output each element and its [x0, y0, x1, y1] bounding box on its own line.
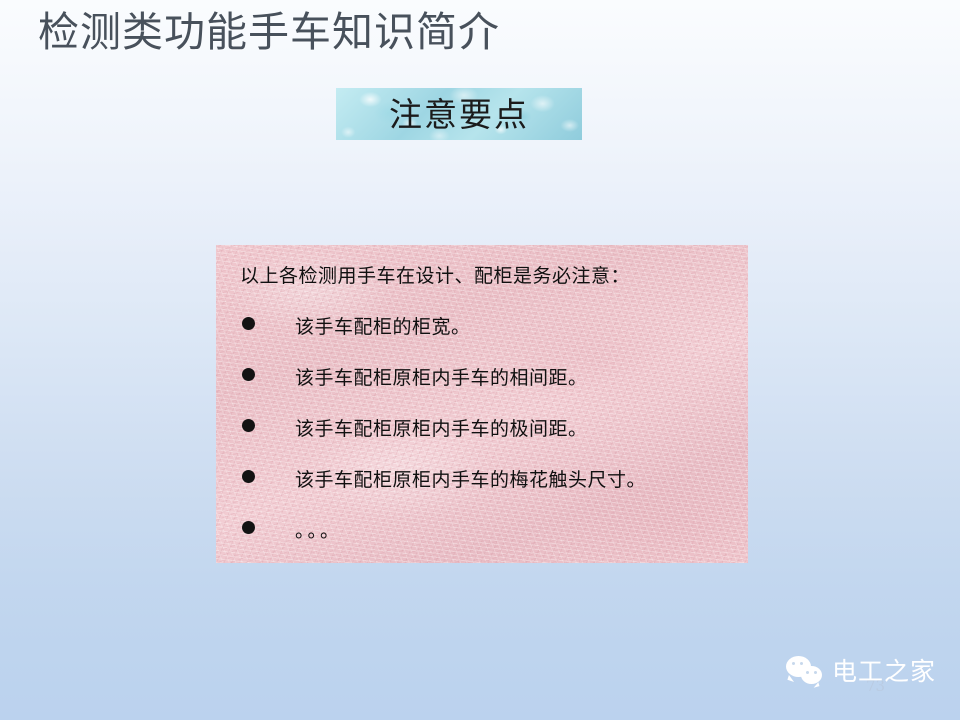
- section-banner-label: 注意要点: [389, 98, 529, 131]
- wechat-dot: [806, 671, 809, 674]
- wechat-dot: [792, 662, 795, 665]
- slide-title: 检测类功能手车知识简介: [38, 8, 500, 56]
- watermark-label: 电工之家: [832, 659, 936, 684]
- notes-lead-text: 以上各检测用手车在设计、配柜是务必注意：: [240, 267, 730, 286]
- list-item-label: 该手车配柜原柜内手车的相间距。: [295, 369, 588, 388]
- wechat-dot: [814, 671, 817, 674]
- wechat-dot: [800, 662, 803, 665]
- list-item: 。。。: [232, 522, 730, 541]
- bullet-icon: [242, 419, 255, 432]
- wechat-bubble-small: [801, 666, 822, 684]
- notes-panel: 以上各检测用手车在设计、配柜是务必注意： 该手车配柜的柜宽。 该手车配柜原柜内手…: [216, 245, 748, 563]
- list-item: 该手车配柜的柜宽。: [232, 318, 730, 337]
- bullet-icon: [242, 521, 255, 534]
- list-item-label: 。。。: [295, 522, 342, 541]
- section-banner: 注意要点: [336, 88, 582, 140]
- wechat-icon: [786, 655, 826, 687]
- bullet-icon: [242, 470, 255, 483]
- list-item-label: 该手车配柜原柜内手车的梅花触头尺寸。: [295, 471, 646, 490]
- list-item-label: 该手车配柜原柜内手车的极间距。: [295, 420, 588, 439]
- list-item: 该手车配柜原柜内手车的梅花触头尺寸。: [232, 471, 730, 490]
- bullet-icon: [242, 368, 255, 381]
- list-item-label: 该手车配柜的柜宽。: [295, 318, 471, 337]
- presentation-slide: 检测类功能手车知识简介 注意要点 以上各检测用手车在设计、配柜是务必注意： 该手…: [0, 0, 960, 720]
- notes-list: 该手车配柜的柜宽。 该手车配柜原柜内手车的相间距。 该手车配柜原柜内手车的极间距…: [232, 318, 730, 541]
- watermark: 电工之家: [786, 655, 936, 687]
- list-item: 该手车配柜原柜内手车的相间距。: [232, 369, 730, 388]
- list-item: 该手车配柜原柜内手车的极间距。: [232, 420, 730, 439]
- bullet-icon: [242, 317, 255, 330]
